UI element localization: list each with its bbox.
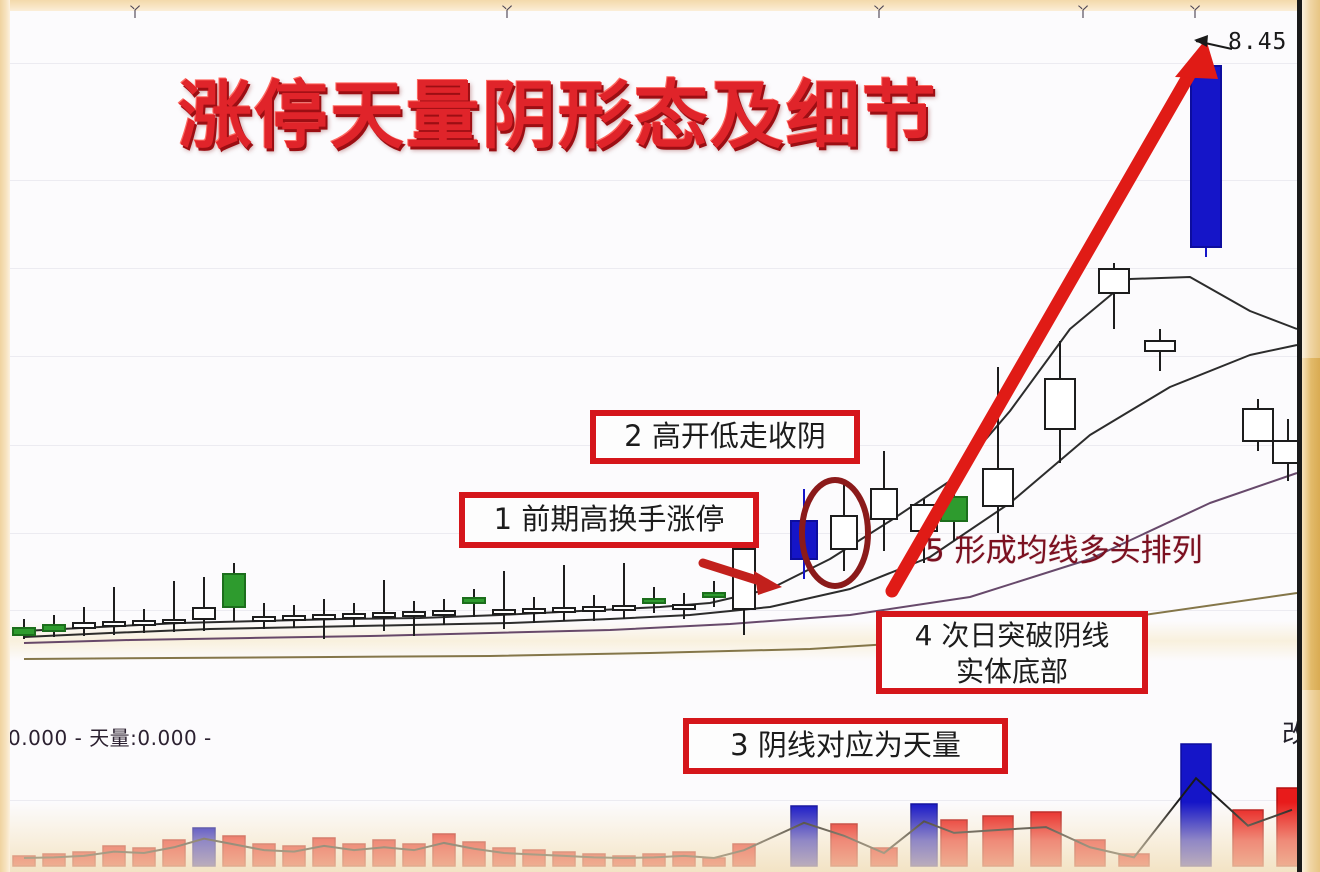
annotation-1-box[interactable]: 1 前期高换手涨停 (459, 492, 759, 548)
annotation-2-box[interactable]: 2 高开低走收阴 (590, 410, 860, 464)
top-tick-glyph: 丫 (500, 2, 514, 22)
frame-right-tan-accent (1302, 358, 1320, 690)
price-label: 8.45 (1228, 29, 1287, 55)
screenshot-root: 0.000 - 天量:0.000 - 改 涨停天量阴形态及细节 8.45 1 前… (0, 0, 1320, 872)
top-tick-glyph: 丫 (872, 2, 886, 22)
page-title: 涨停天量阴形态及细节 (178, 56, 938, 163)
highlight-oval (802, 480, 868, 586)
annotation-3-box[interactable]: 3 阴线对应为天量 (683, 718, 1008, 774)
annotation-4-box[interactable]: 4 次日突破阴线 实体底部 (876, 611, 1148, 694)
frame-top-border (0, 0, 1320, 11)
annotation-5-text: 5 形成均线多头排列 (925, 525, 1203, 570)
footer-readout: 0.000 - 天量:0.000 - (8, 722, 212, 751)
top-tick-glyph: 丫 (1188, 2, 1202, 22)
annotation-1-arrow (703, 563, 782, 595)
trend-arrow (892, 39, 1218, 591)
frame-left-border (0, 0, 10, 872)
top-tick-glyph: 丫 (1076, 2, 1090, 22)
top-tick-glyph: 丫 (128, 2, 142, 22)
